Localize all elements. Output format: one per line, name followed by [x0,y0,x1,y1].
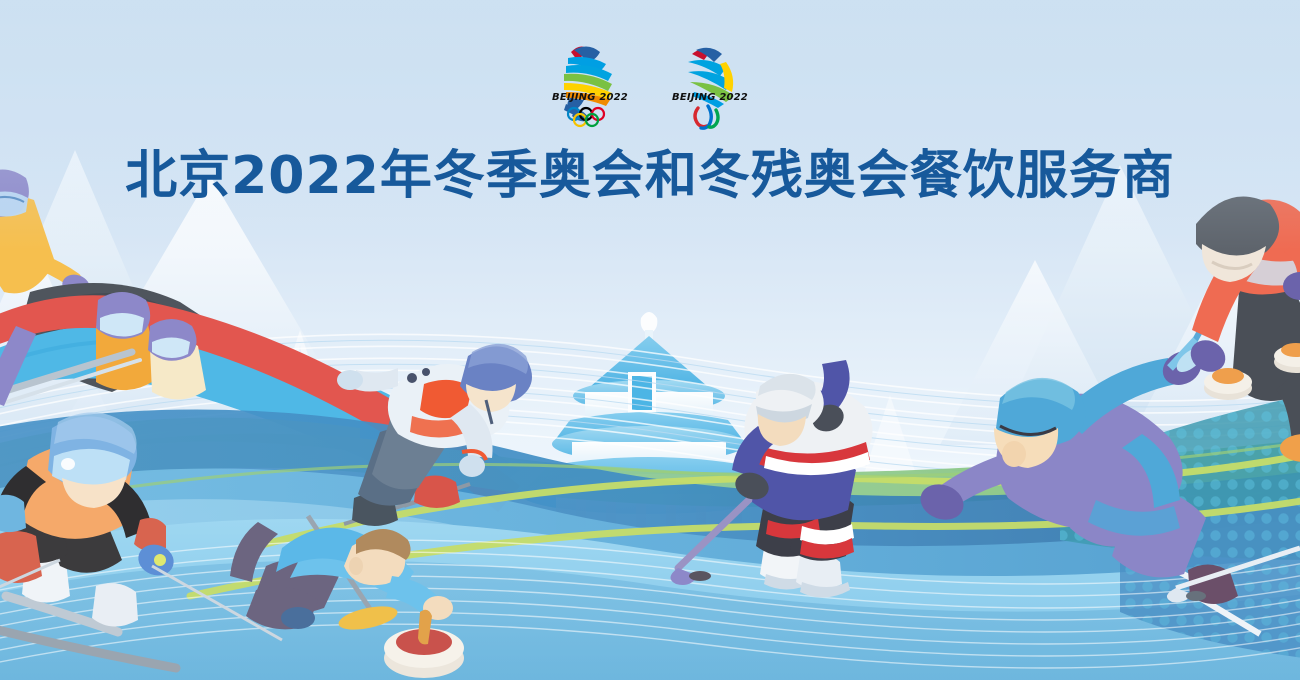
beijing-2022-olympic-logo: BEIJING 2022 [544,34,636,136]
page-title-container: 北京2022年冬季奥会和冬残奥会餐饮服务商 [0,146,1300,206]
olympic-banner: BEIJING 2022 [0,0,1300,680]
beijing-2022-paralympic-logo: BEIJING 2022 [664,34,756,136]
logo-row: BEIJING 2022 [0,34,1300,136]
paralympic-wordmark: BEIJING 2022 [672,92,748,103]
olympic-wordmark: BEIJING 2022 [552,92,628,103]
page-title: 北京2022年冬季奥会和冬残奥会餐饮服务商 [125,146,1175,206]
